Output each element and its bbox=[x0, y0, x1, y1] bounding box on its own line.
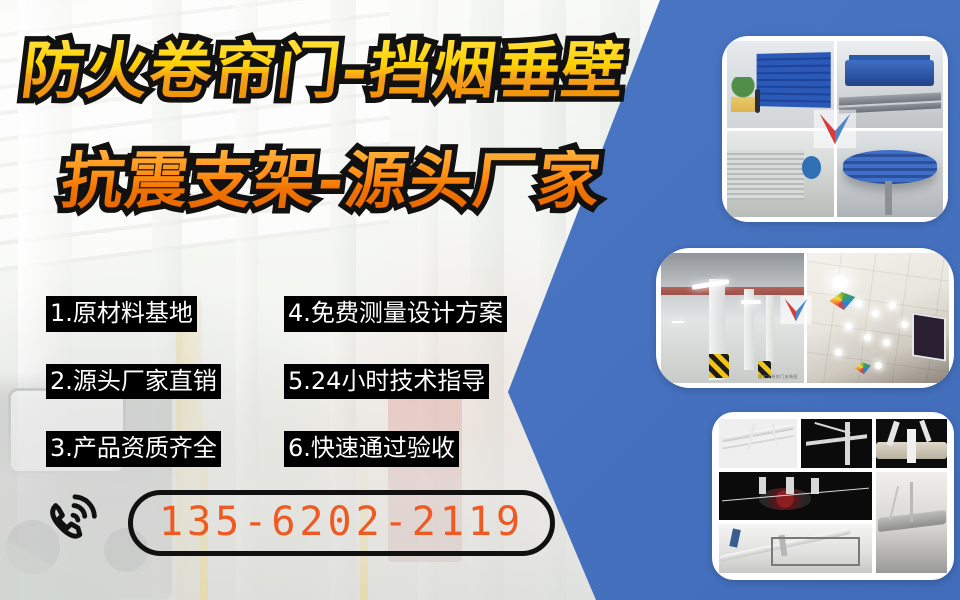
headline-secondary: 抗震支架-源头厂家 抗震支架-源头厂家 bbox=[58, 150, 605, 212]
photo-bracket-dark-beam bbox=[801, 419, 872, 468]
feature-list: 1.原材料基地 4.免费测量设计方案 2.源头厂家直销 5.24小时技术指导 3… bbox=[46, 296, 546, 467]
seismic-bracket-collage[interactable] bbox=[712, 412, 954, 580]
photo-factory-production-machine bbox=[837, 41, 944, 128]
headline-primary-fill: 防火卷帘门-挡烟垂壁 bbox=[18, 40, 629, 102]
photo-bracket-fan-duct bbox=[719, 472, 872, 521]
photo-bracket-wall-run bbox=[719, 524, 872, 573]
photo-caption: 固定式卷帘门安装图 bbox=[758, 374, 798, 380]
installation-site-collage[interactable]: 固定式卷帘门安装图 bbox=[656, 248, 954, 388]
photo-bracket-pipe-rack bbox=[719, 419, 797, 468]
phone-number-pill[interactable]: 135-6202-2119 bbox=[128, 490, 555, 556]
fire-shutter-product-collage[interactable] bbox=[722, 36, 948, 222]
contact-row: 135-6202-2119 bbox=[44, 490, 555, 556]
photo-blue-coil-roll bbox=[837, 131, 944, 218]
feature-item-5: 5.24小时技术指导 bbox=[284, 364, 489, 400]
photo-parking-garage-pillars: 固定式卷帘门安装图 bbox=[661, 253, 804, 383]
feature-item-6: 6.快速通过验收 bbox=[284, 431, 459, 467]
photo-grey-shutter-corridor bbox=[727, 131, 834, 218]
feature-item-4: 4.免费测量设计方案 bbox=[284, 296, 507, 332]
promo-banner: 防火卷帘门-挡烟垂壁 防火卷帘门-挡烟垂壁 抗震支架-源头厂家 抗震支架-源头厂… bbox=[0, 0, 960, 600]
headline-primary: 防火卷帘门-挡烟垂壁 防火卷帘门-挡烟垂壁 bbox=[18, 40, 629, 102]
feature-item-2: 2.源头厂家直销 bbox=[46, 364, 221, 400]
photo-bracket-pipe-clamp bbox=[876, 419, 947, 468]
phone-ringing-icon bbox=[44, 492, 106, 554]
photo-bracket-ceiling-duct bbox=[876, 472, 947, 573]
photo-blue-shutter-hall bbox=[727, 41, 834, 128]
photo-ceiling-lights-atrium bbox=[807, 253, 950, 383]
feature-item-3: 3.产品资质齐全 bbox=[46, 431, 221, 467]
feature-item-1: 1.原材料基地 bbox=[46, 296, 197, 332]
phone-number: 135-6202-2119 bbox=[159, 499, 524, 545]
headline-secondary-fill: 抗震支架-源头厂家 bbox=[58, 150, 605, 212]
